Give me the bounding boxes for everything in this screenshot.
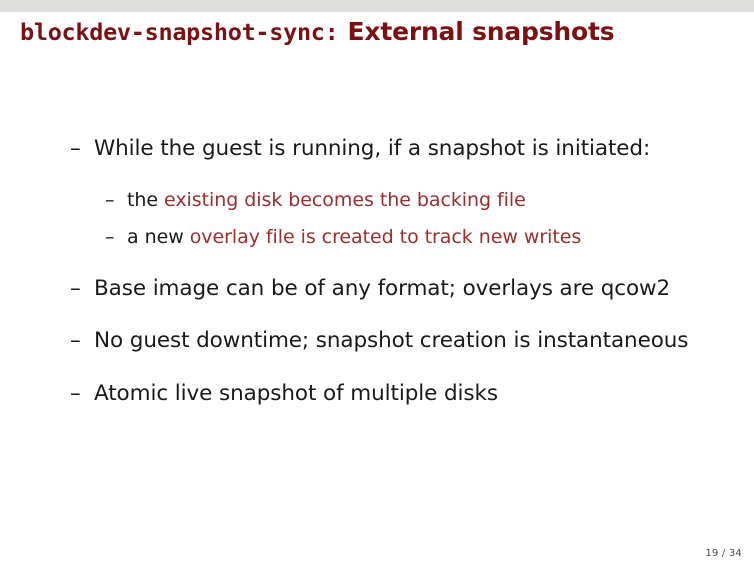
sub-bullet-dash-icon: – — [105, 228, 114, 247]
slide-top-bar — [0, 0, 754, 12]
bullet-dash-icon: – — [70, 138, 81, 160]
sub-bullet-item: –the existing disk becomes the backing f… — [0, 191, 754, 210]
title-subject: External snapshots — [348, 17, 615, 46]
bullet-text: Base image can be of any format; overlay… — [94, 276, 670, 301]
bullet-text: No guest downtime; snapshot creation is … — [94, 328, 688, 353]
page-number: 19 / 34 — [705, 548, 742, 559]
sub-bullet-item: –a new overlay file is created to track … — [0, 228, 754, 247]
sub-bullet-lead-text: a new — [127, 226, 190, 248]
sub-bullet-dash-icon: – — [105, 191, 114, 210]
slide-title: blockdev-snapshot-sync:External snapshot… — [20, 19, 614, 45]
bullet-dash-icon: – — [70, 278, 81, 300]
bullet-item: – While the guest is running, if a snaps… — [0, 138, 754, 160]
bullet-text: While the guest is running, if a snapsho… — [94, 136, 650, 161]
bullet-dash-icon: – — [70, 330, 81, 352]
slide-canvas: blockdev-snapshot-sync:External snapshot… — [0, 0, 754, 566]
bullet-dash-icon: – — [70, 383, 81, 405]
bullet-text: Atomic live snapshot of multiple disks — [94, 381, 498, 406]
slide-body: – While the guest is running, if a snaps… — [0, 138, 754, 404]
bullet-item: – Base image can be of any format; overl… — [0, 278, 754, 300]
bullet-item: – No guest downtime; snapshot creation i… — [0, 330, 754, 352]
sub-bullet-lead-text: the — [127, 189, 164, 211]
sub-bullet-highlight-text: overlay file is created to track new wri… — [190, 226, 582, 248]
title-command-name: blockdev-snapshot-sync: — [20, 18, 339, 46]
sub-bullet-highlight-text: existing disk becomes the backing file — [164, 189, 526, 211]
bullet-item: – Atomic live snapshot of multiple disks — [0, 383, 754, 405]
